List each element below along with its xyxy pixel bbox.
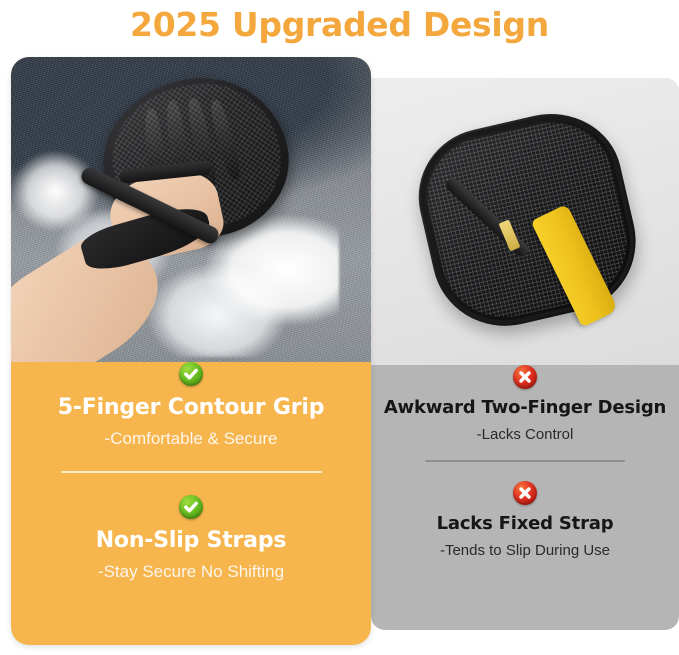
pro-feature-item: 5-Finger Contour Grip -Comfortable & Sec… [11, 362, 371, 449]
con-feature-title: Awkward Two-Finger Design [371, 397, 679, 418]
con-feature-list: Awkward Two-Finger Design -Lacks Control… [371, 365, 679, 559]
pro-feature-subtitle: -Comfortable & Secure [11, 429, 371, 449]
cross-circle-icon [513, 481, 537, 505]
con-feature-subtitle: -Tends to Slip During Use [371, 542, 679, 559]
pro-feature-subtitle: -Stay Secure No Shifting [11, 562, 371, 582]
comparison-panel-pro: 5-Finger Contour Grip -Comfortable & Sec… [11, 57, 371, 645]
con-feature-subtitle: -Lacks Control [371, 426, 679, 443]
con-feature-item: Lacks Fixed Strap -Tends to Slip During … [371, 481, 679, 559]
page-title: 2025 Upgraded Design [0, 0, 679, 50]
con-spacer [371, 462, 679, 481]
con-product-photo [371, 78, 679, 365]
check-circle-icon [179, 495, 203, 519]
pro-feature-list: 5-Finger Contour Grip -Comfortable & Sec… [11, 362, 371, 582]
pro-feature-item: Non-Slip Straps -Stay Secure No Shifting [11, 495, 371, 582]
pro-spacer [11, 473, 371, 495]
pro-product-photo [11, 57, 371, 362]
pro-feature-title: Non-Slip Straps [11, 528, 371, 553]
check-circle-icon [179, 362, 203, 386]
comparison-panel-con: Awkward Two-Finger Design -Lacks Control… [371, 78, 679, 630]
pro-feature-title: 5-Finger Contour Grip [11, 395, 371, 420]
con-feature-item: Awkward Two-Finger Design -Lacks Control [371, 365, 679, 443]
con-feature-title: Lacks Fixed Strap [371, 513, 679, 534]
cross-circle-icon [513, 365, 537, 389]
